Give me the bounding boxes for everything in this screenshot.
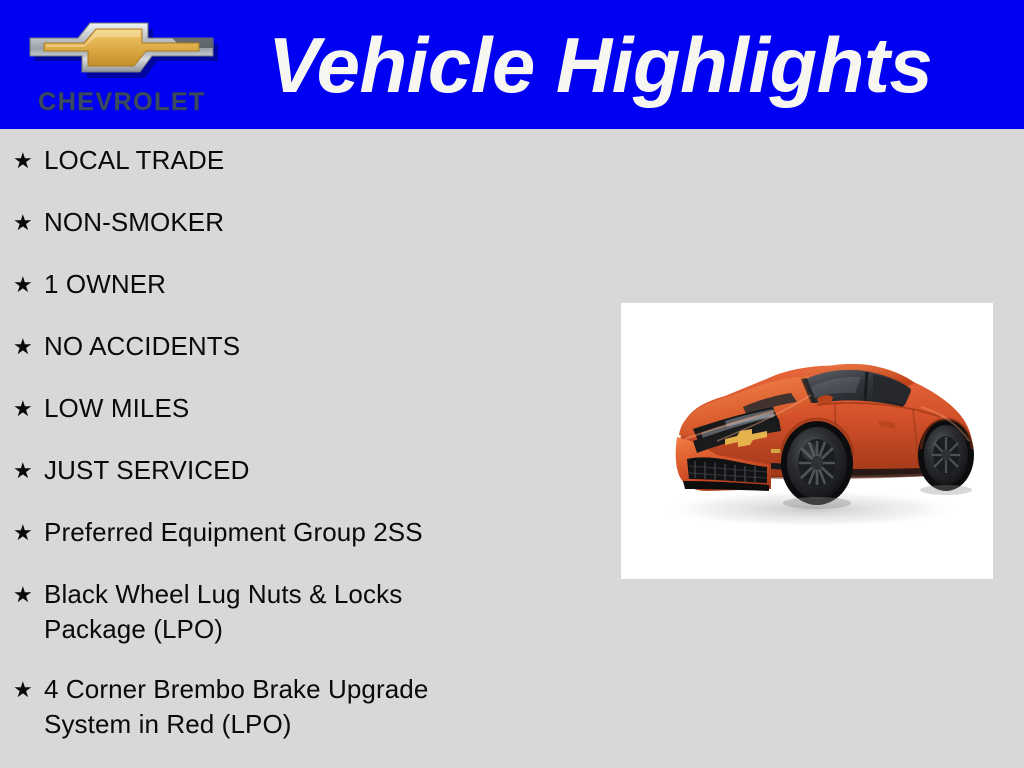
list-item: ★ Preferred Equipment Group 2SS: [0, 515, 560, 550]
list-item: ★ 4 Corner Brembo Brake Upgrade System i…: [0, 672, 560, 742]
page-title: Vehicle Highlights: [268, 17, 998, 113]
list-item-label: Black Wheel Lug Nuts & Locks Package (LP…: [44, 577, 560, 647]
list-item-label: NON-SMOKER: [44, 205, 560, 240]
list-item-label: LOCAL TRADE: [44, 143, 560, 178]
header-banner: CHEVROLET Vehicle Highlights: [0, 0, 1024, 129]
star-icon: ★: [13, 453, 33, 488]
list-item: ★ LOCAL TRADE: [0, 143, 560, 178]
list-item-label-line: System in Red (LPO): [44, 707, 560, 742]
list-item-label-line: 4 Corner Brembo Brake Upgrade: [44, 672, 560, 707]
list-item-label-line: Black Wheel Lug Nuts & Locks: [44, 577, 560, 612]
star-icon: ★: [13, 391, 33, 426]
list-item-label: JUST SERVICED: [44, 453, 560, 488]
list-item: ★ Black Wheel Lug Nuts & Locks Package (…: [0, 577, 560, 647]
camaro-illustration: [621, 303, 993, 579]
list-item: ★ JUST SERVICED: [0, 453, 560, 488]
list-item-label: Preferred Equipment Group 2SS: [44, 515, 560, 550]
chevrolet-brand-logo: CHEVROLET: [22, 10, 222, 122]
star-icon: ★: [13, 672, 33, 707]
list-item: ★ NO ACCIDENTS: [0, 329, 560, 364]
star-icon: ★: [13, 267, 33, 302]
list-item: ★ NON-SMOKER: [0, 205, 560, 240]
vehicle-photo: [621, 303, 993, 579]
chevrolet-bowtie-icon: [22, 12, 222, 82]
chevrolet-wordmark: CHEVROLET: [22, 90, 222, 115]
list-item-label: NO ACCIDENTS: [44, 329, 560, 364]
vehicle-highlights-list: ★ LOCAL TRADE ★ NON-SMOKER ★ 1 OWNER ★ N…: [0, 143, 560, 767]
star-icon: ★: [13, 515, 33, 550]
list-item: ★ LOW MILES: [0, 391, 560, 426]
star-icon: ★: [13, 205, 33, 240]
list-item: ★ 1 OWNER: [0, 267, 560, 302]
list-item-label: LOW MILES: [44, 391, 560, 426]
list-item-label-line: Package (LPO): [44, 612, 560, 647]
star-icon: ★: [13, 143, 33, 178]
list-item-label: 1 OWNER: [44, 267, 560, 302]
star-icon: ★: [13, 329, 33, 364]
front-wheel: [781, 421, 853, 505]
list-item-label: 4 Corner Brembo Brake Upgrade System in …: [44, 672, 560, 742]
star-icon: ★: [13, 577, 33, 612]
